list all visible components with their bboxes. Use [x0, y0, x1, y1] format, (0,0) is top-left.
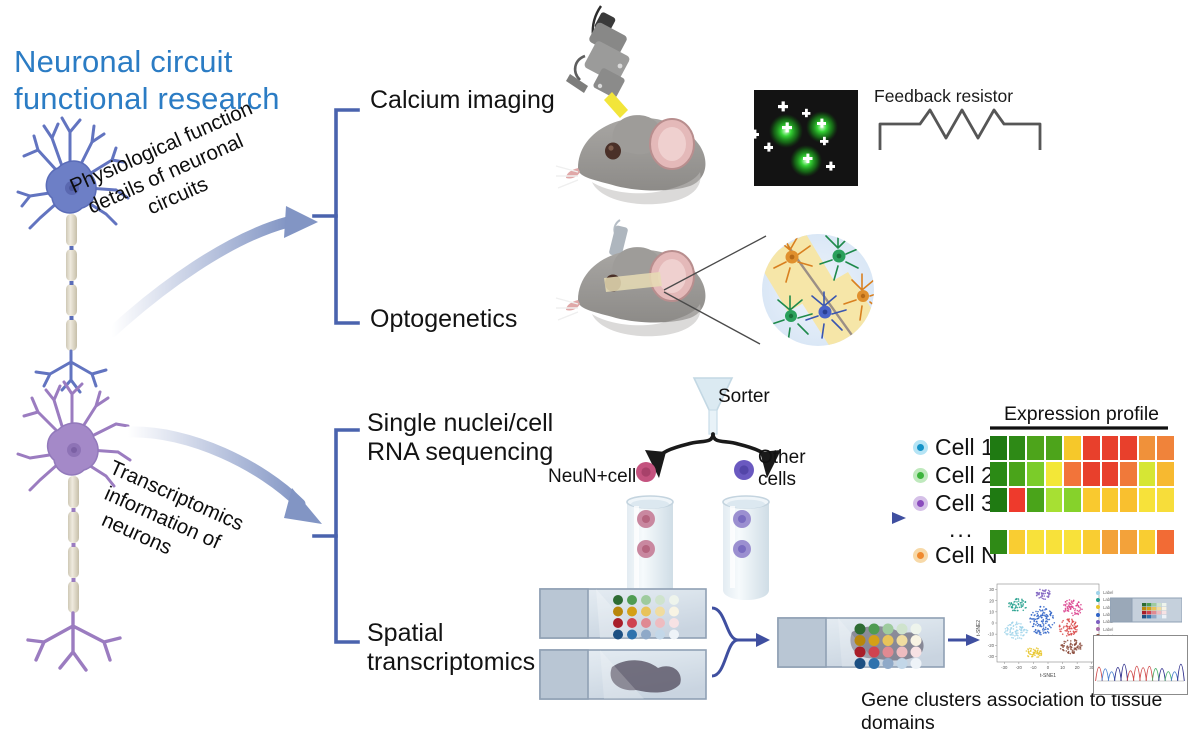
tsne-point [1020, 630, 1022, 632]
tsne-point [1066, 623, 1068, 625]
tsne-point [1020, 602, 1022, 604]
tsne-ytick-label: -30 [988, 654, 995, 659]
tsne-point [1013, 628, 1015, 630]
tsne-point [1012, 637, 1014, 639]
tsne-point [1045, 621, 1047, 623]
heatmap-cell [1139, 436, 1156, 460]
tsne-point [1045, 622, 1047, 624]
tsne-point [1065, 641, 1067, 643]
tsne-point [1073, 608, 1075, 610]
tsne-point [1039, 655, 1041, 657]
tsne-point [1052, 615, 1054, 617]
tsne-ytick-label: 0 [992, 621, 995, 626]
tsne-ytick-label: 10 [989, 609, 994, 614]
tsne-point [1046, 614, 1048, 616]
tsne-point [1074, 640, 1076, 642]
tsne-point [1026, 632, 1028, 634]
tsne-point [1045, 618, 1047, 620]
tsne-point [1061, 628, 1063, 630]
tsne-legend-dot [1096, 627, 1100, 631]
mini-slide-spot [1162, 611, 1166, 614]
tsne-point [1027, 630, 1029, 632]
cell-legend-row: Cell 2 [913, 462, 998, 488]
tsne-point [1036, 621, 1038, 623]
tsne-point [1008, 603, 1010, 605]
tsne-point [1048, 632, 1050, 634]
tsne-point [1049, 610, 1051, 612]
tsne-point [1074, 622, 1076, 624]
tsne-point [1032, 612, 1034, 614]
slide-spot [911, 647, 922, 658]
tsne-point [1049, 626, 1051, 628]
tsne-point [1079, 610, 1081, 612]
tsne-point [1062, 633, 1064, 635]
tsne-point [1067, 647, 1069, 649]
tsne-point [1042, 622, 1044, 624]
tsne-point [1067, 626, 1069, 628]
slide-spot [641, 607, 651, 617]
cell-color-dot [913, 548, 928, 563]
tsne-point [1073, 632, 1075, 634]
slide-spot [627, 595, 637, 605]
tsne-point [1007, 630, 1009, 632]
tsne-point [1034, 650, 1036, 652]
tsne-point [1042, 630, 1044, 632]
tsne-point [1044, 615, 1046, 617]
tsne-point [1063, 641, 1065, 643]
tsne-point [1023, 600, 1025, 602]
tsne-xlabel: t-SNE1 [1040, 673, 1056, 678]
heatmap-cell [1027, 530, 1044, 554]
tsne-point [1017, 632, 1019, 634]
tsne-point [1070, 649, 1072, 651]
mini-slide-spot [1157, 611, 1161, 614]
tsne-point [1061, 621, 1063, 623]
tsne-point [1018, 604, 1020, 606]
tsne-point [1044, 595, 1046, 597]
heatmap-cell [1064, 488, 1081, 512]
heatmap-cell [1083, 436, 1100, 460]
tsne-point [1079, 607, 1081, 609]
tsne-point [1039, 589, 1041, 591]
tsne-point [1066, 619, 1068, 621]
other-cells-label: Other cells [758, 447, 806, 491]
tsne-point [1050, 627, 1052, 629]
slide-spot [641, 595, 651, 605]
tsne-point [1022, 609, 1024, 611]
tsne-legend-dot [1096, 598, 1100, 602]
slide-spot [613, 618, 623, 628]
label-line: Other [758, 447, 806, 469]
tsne-point [1079, 612, 1081, 614]
tsne-point [1059, 629, 1061, 631]
tsne-point [1070, 653, 1072, 655]
tsne-point [1033, 619, 1035, 621]
tsne-point [1044, 612, 1046, 614]
tsne-point [1045, 589, 1047, 591]
tsne-point [1076, 649, 1078, 651]
tsne-point [1016, 601, 1018, 603]
tsne-svg: -30-20-1001020303020100-10-20-30t-SNE1t-… [975, 578, 1105, 678]
mini-slide-spot [1157, 615, 1161, 618]
tsne-point [1018, 623, 1020, 625]
mini-slide-spot [1147, 603, 1151, 606]
tsne-point [1022, 635, 1024, 637]
slide-spot [669, 595, 679, 605]
tsne-point [1037, 618, 1039, 620]
tsne-point [1016, 598, 1018, 600]
tsne-point [1033, 652, 1035, 654]
tsne-point [1020, 623, 1022, 625]
tsne-point [1036, 595, 1038, 597]
mini-slide-spot [1147, 611, 1151, 614]
tsne-point [1033, 649, 1035, 651]
slide-spot [669, 630, 679, 640]
tsne-point [1040, 606, 1042, 608]
mini-slide-spot [1147, 615, 1151, 618]
expression-profile-title: Expression profile [1004, 403, 1159, 426]
tsne-point [1031, 654, 1033, 656]
tsne-point [1068, 619, 1070, 621]
label-line: Spatial [367, 619, 535, 648]
tsne-point [1072, 602, 1074, 604]
tsne-legend-label: Label [1103, 590, 1113, 595]
tsne-point [1076, 629, 1078, 631]
tsne-point [1013, 625, 1015, 627]
heatmap-cell [1102, 436, 1119, 460]
page-title: Neuronal circuit functional research [14, 44, 344, 117]
tsne-point [1039, 631, 1041, 633]
mini-slide-spot [1152, 611, 1156, 614]
label-line: Single nuclei/cell [367, 409, 553, 438]
tsne-scatter-plot: -30-20-1001020303020100-10-20-30t-SNE1t-… [975, 578, 1105, 678]
tsne-legend-dot [1096, 591, 1100, 595]
tsne-point [1043, 606, 1045, 608]
tsne-point [1012, 632, 1014, 634]
tsne-ytick-label: -20 [988, 643, 995, 648]
tsne-point [1038, 624, 1040, 626]
tsne-point [1016, 623, 1018, 625]
tsne-point [1041, 620, 1043, 622]
heatmap-cell [1027, 462, 1044, 486]
heatmap-cell [1120, 436, 1137, 460]
tsne-point [1060, 631, 1062, 633]
tsne-xtick-label: -20 [1016, 665, 1023, 670]
heatmap-cell [1120, 488, 1137, 512]
slide-spot [855, 658, 866, 669]
tsne-point [1042, 629, 1044, 631]
tsne-point [1012, 604, 1014, 606]
tsne-point [1030, 621, 1032, 623]
tsne-point [1060, 648, 1062, 650]
tsne-point [1045, 627, 1047, 629]
slide-spot [897, 647, 908, 658]
mini-slide-spot [1152, 615, 1156, 618]
tsne-point [1073, 624, 1075, 626]
heatmap-cell [1009, 530, 1026, 554]
tsne-point [1017, 637, 1019, 639]
tsne-point [1033, 615, 1035, 617]
tsne-point [1020, 626, 1022, 628]
tsne-point [1031, 618, 1033, 620]
tsne-point [1069, 628, 1071, 630]
tsne-point [1029, 618, 1031, 620]
heatmap-cell [1102, 530, 1119, 554]
tsne-point [1035, 629, 1037, 631]
tsne-point [1035, 631, 1037, 633]
tsne-point [1011, 627, 1013, 629]
tsne-point [1037, 622, 1039, 624]
tsne-point [1037, 615, 1039, 617]
tsne-point [1019, 628, 1021, 630]
tsne-point [1042, 609, 1044, 611]
heatmap-cell [1009, 436, 1026, 460]
tsne-point [1047, 621, 1049, 623]
branch-label-single-nuclei-rna-seq[interactable]: Single nuclei/cell RNA sequencing [367, 409, 553, 467]
tsne-point [1066, 603, 1068, 605]
tsne-point [1018, 600, 1020, 602]
tsne-point [1071, 627, 1073, 629]
tsne-point [1015, 638, 1017, 640]
tsne-point [1016, 610, 1018, 612]
tsne-point [1026, 650, 1028, 652]
slide-spot [869, 658, 880, 669]
tsne-point [1014, 607, 1016, 609]
heatmap-cell [1102, 462, 1119, 486]
tsne-point [1065, 608, 1067, 610]
heatmap-row [990, 488, 1176, 512]
tsne-point [1045, 616, 1047, 618]
slide-spot [855, 635, 866, 646]
tsne-point [1028, 656, 1030, 658]
slide-spot [613, 595, 623, 605]
tsne-point [1025, 601, 1027, 603]
tsne-point [1063, 610, 1065, 612]
tsne-point [1062, 644, 1064, 646]
tsne-point [1042, 620, 1044, 622]
tsne-point [1043, 632, 1045, 634]
heatmap-cell [1046, 488, 1063, 512]
tsne-point [1062, 620, 1064, 622]
mini-slide-spot [1142, 615, 1146, 618]
tsne-point [1064, 604, 1066, 606]
tsne-point [1066, 650, 1068, 652]
tsne-point [1070, 608, 1072, 610]
tsne-xtick-label: 0 [1047, 665, 1050, 670]
tsne-point [1041, 614, 1043, 616]
tsne-point [1072, 621, 1074, 623]
cell-color-dot [913, 468, 928, 483]
tsne-point [1068, 610, 1070, 612]
tsne-point [1069, 634, 1071, 636]
tsne-point [1041, 617, 1043, 619]
tsne-point [1037, 625, 1039, 627]
slide-spot [641, 618, 651, 628]
tsne-point [1042, 592, 1044, 594]
tsne-point [1075, 605, 1077, 607]
tsne-point [1063, 626, 1065, 628]
heatmap-cell [1102, 488, 1119, 512]
sequencing-chromatogram [1093, 635, 1188, 700]
tsne-point [1063, 650, 1065, 652]
branch-label-spatial-transcriptomics[interactable]: Spatial transcriptomics [367, 619, 535, 677]
tsne-point [1005, 633, 1007, 635]
label-line: Calcium imaging [370, 86, 555, 115]
slide-spot [897, 624, 908, 635]
heatmap-cell [1027, 436, 1044, 460]
heatmap-cell [1120, 530, 1137, 554]
tsne-point [1016, 607, 1018, 609]
tsne-point [1037, 650, 1039, 652]
slide-spot [911, 624, 922, 635]
tsne-point [1010, 634, 1012, 636]
tsne-point [1033, 631, 1035, 633]
feedback-resistor-label: Feedback resistor [874, 86, 1013, 106]
tsne-point [1006, 627, 1008, 629]
mini-slide-spot [1142, 611, 1146, 614]
tsne-point [1073, 633, 1075, 635]
slide-spot [911, 658, 922, 669]
heatmap-cell [1139, 530, 1156, 554]
branch-label-optogenetics[interactable]: Optogenetics [370, 305, 517, 334]
tsne-point [1043, 625, 1045, 627]
tsne-point [1070, 643, 1072, 645]
slide-spot [669, 618, 679, 628]
tsne-point [1005, 628, 1007, 630]
tsne-point [1070, 604, 1072, 606]
cell-legend-row: Cell N [913, 542, 998, 568]
tsne-point [1077, 610, 1079, 612]
tsne-point [1016, 630, 1018, 632]
tsne-point [1018, 598, 1020, 600]
heatmap-cell [990, 488, 1007, 512]
heatmap-cell [1064, 530, 1081, 554]
heatmap-cell [1046, 530, 1063, 554]
tsne-point [1035, 611, 1037, 613]
tsne-point [1065, 610, 1067, 612]
tsne-point [1074, 610, 1076, 612]
tsne-point [1007, 625, 1009, 627]
branch-label-calcium-imaging[interactable]: Calcium imaging [370, 86, 555, 115]
heatmap-row [990, 530, 1176, 554]
tsne-point [1077, 613, 1079, 615]
tsne-point [1040, 625, 1042, 627]
tsne-point [1012, 610, 1014, 612]
mini-slide-spot [1162, 607, 1166, 610]
tsne-point [1070, 633, 1072, 635]
tsne-point [1045, 628, 1047, 630]
tsne-point [1074, 627, 1076, 629]
tsne-point [1072, 615, 1074, 617]
tsne-point [1041, 593, 1043, 595]
tsne-point [1075, 613, 1077, 615]
tsne-point [1008, 606, 1010, 608]
tsne-point [1077, 604, 1079, 606]
slide-spot [627, 630, 637, 640]
tsne-point [1004, 632, 1006, 634]
tsne-point [1037, 631, 1039, 633]
tsne-point [1040, 634, 1042, 636]
slide-spot [883, 624, 894, 635]
tsne-point [1036, 613, 1038, 615]
heatmap-cell [1009, 462, 1026, 486]
cell-name: Cell 2 [935, 464, 994, 487]
tsne-point [1049, 619, 1051, 621]
heatmap-cell [990, 530, 1007, 554]
heatmap-cell [1157, 436, 1174, 460]
tsne-point [1044, 609, 1046, 611]
tsne-point [1075, 643, 1077, 645]
tsne-point [1030, 653, 1032, 655]
tsne-point [1069, 625, 1071, 627]
tsne-point [1010, 624, 1012, 626]
slide-spot [669, 607, 679, 617]
tsne-point [1036, 592, 1038, 594]
heatmap-cell [1064, 436, 1081, 460]
tsne-point [1047, 592, 1049, 594]
tsne-point [1047, 628, 1049, 630]
label-line: transcriptomics [367, 648, 535, 677]
tsne-point [1081, 645, 1083, 647]
heatmap-cell [1157, 488, 1174, 512]
slide-spot [655, 595, 665, 605]
tsne-point [1020, 634, 1022, 636]
slide-spot [869, 635, 880, 646]
cell-legend-row: Cell 1 [913, 434, 998, 460]
heatmap-row [990, 462, 1176, 486]
tsne-point [1047, 615, 1049, 617]
tsne-point [1044, 593, 1046, 595]
tsne-point [1005, 630, 1007, 632]
tsne-point [1051, 612, 1053, 614]
tsne-point [1031, 656, 1033, 658]
tsne-point [1039, 609, 1041, 611]
expression-cell-legend: Cell 1Cell 2Cell 3...Cell N [913, 434, 998, 570]
tsne-point [1073, 652, 1075, 654]
cell-name: Cell 3 [935, 492, 994, 515]
tsne-point [1024, 629, 1026, 631]
heatmap-gap [990, 514, 1176, 530]
tsne-point [1071, 612, 1073, 614]
tsne-point [1019, 606, 1021, 608]
tsne-point [1069, 606, 1071, 608]
tsne-point [1017, 635, 1019, 637]
tsne-point [1012, 634, 1014, 636]
slide-spot [655, 607, 665, 617]
slide-spot [897, 635, 908, 646]
heatmap-row [990, 436, 1176, 460]
tsne-point [1011, 622, 1013, 624]
tsne-point [1030, 650, 1032, 652]
chromatogram-svg [1093, 635, 1188, 695]
tsne-point [1021, 601, 1023, 603]
tsne-point [1072, 625, 1074, 627]
tsne-point [1066, 635, 1068, 637]
cell-legend-row: Cell 3 [913, 490, 998, 516]
slide-spot [627, 607, 637, 617]
tsne-point [1047, 619, 1049, 621]
tsne-point [1011, 603, 1013, 605]
tsne-point [1031, 614, 1033, 616]
tsne-legend-dot [1096, 620, 1100, 624]
tsne-point [1069, 599, 1071, 601]
tsne-legend-dot [1096, 605, 1100, 609]
cell-color-dot [913, 440, 928, 455]
tsne-point [1070, 640, 1072, 642]
tsne-point [1021, 632, 1023, 634]
tsne-point [1048, 594, 1050, 596]
tsne-ytick-label: 20 [989, 598, 994, 603]
